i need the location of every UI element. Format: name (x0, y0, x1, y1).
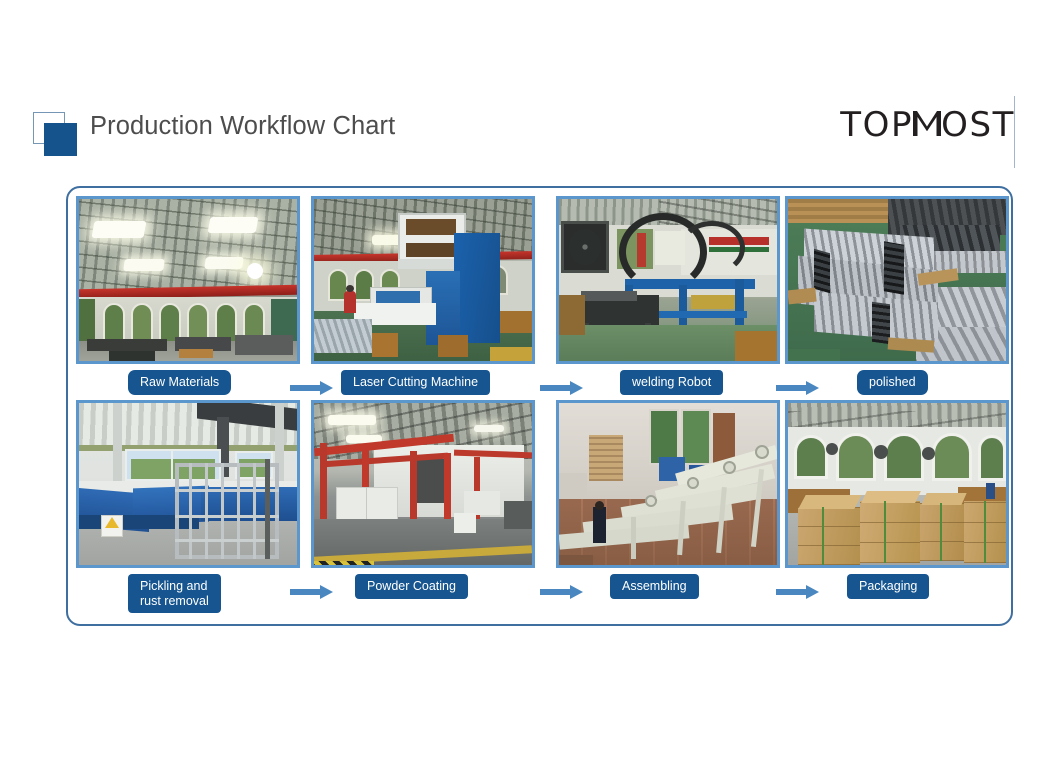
stage-laser-cutting-machine[interactable]: Laser Cutting Machine (311, 196, 535, 401)
workflow-frame: Raw Materials (66, 186, 1013, 626)
stage-label[interactable]: Laser Cutting Machine (341, 370, 490, 395)
thumb-pickling-tanks[interactable] (76, 400, 300, 568)
stage-label[interactable]: Pickling and rust removal (128, 574, 221, 613)
brand-logo: TOPOST (840, 104, 1015, 146)
vertical-divider (1014, 96, 1016, 168)
thumb-welding-robot-station[interactable] (556, 196, 780, 364)
stage-label[interactable]: welding Robot (620, 370, 723, 395)
brand-text-ost: OST (941, 105, 1015, 145)
stage-raw-materials[interactable]: Raw Materials (76, 196, 300, 401)
stage-polished[interactable]: polished (785, 196, 1009, 401)
thumb-assembly-workshop[interactable] (556, 400, 780, 568)
stage-powder-coating[interactable]: Powder Coating (311, 400, 535, 605)
page-title: Production Workflow Chart (90, 112, 395, 141)
stage-label[interactable]: Powder Coating (355, 574, 468, 599)
square-solid-shape (44, 123, 77, 156)
stage-label[interactable]: Packaging (847, 574, 929, 599)
stage-label[interactable]: Raw Materials (128, 370, 231, 395)
stage-packaging[interactable]: Packaging (785, 400, 1009, 605)
stage-assembling[interactable]: Assembling (556, 400, 780, 605)
stage-pickling-and-rust-removal[interactable]: Pickling and rust removal (76, 400, 300, 605)
workflow-row-bottom: Pickling and rust removal (68, 400, 1011, 605)
two-squares-icon (33, 112, 77, 156)
workflow-row-top: Raw Materials (68, 196, 1011, 401)
brand-m-icon (912, 110, 942, 136)
stage-label[interactable]: Assembling (610, 574, 699, 599)
brand-text-top: TOP (840, 105, 913, 145)
stage-welding-robot[interactable]: welding Robot (556, 196, 780, 401)
thumb-packaged-cartons-warehouse[interactable] (785, 400, 1009, 568)
thumb-polished-metal-parts-on-pallets[interactable] (785, 196, 1009, 364)
thumb-laser-cutting-machine[interactable] (311, 196, 535, 364)
thumb-factory-workshop-interior[interactable] (76, 196, 300, 364)
stage-label[interactable]: polished (857, 370, 928, 395)
thumb-powder-coating-line[interactable] (311, 400, 535, 568)
